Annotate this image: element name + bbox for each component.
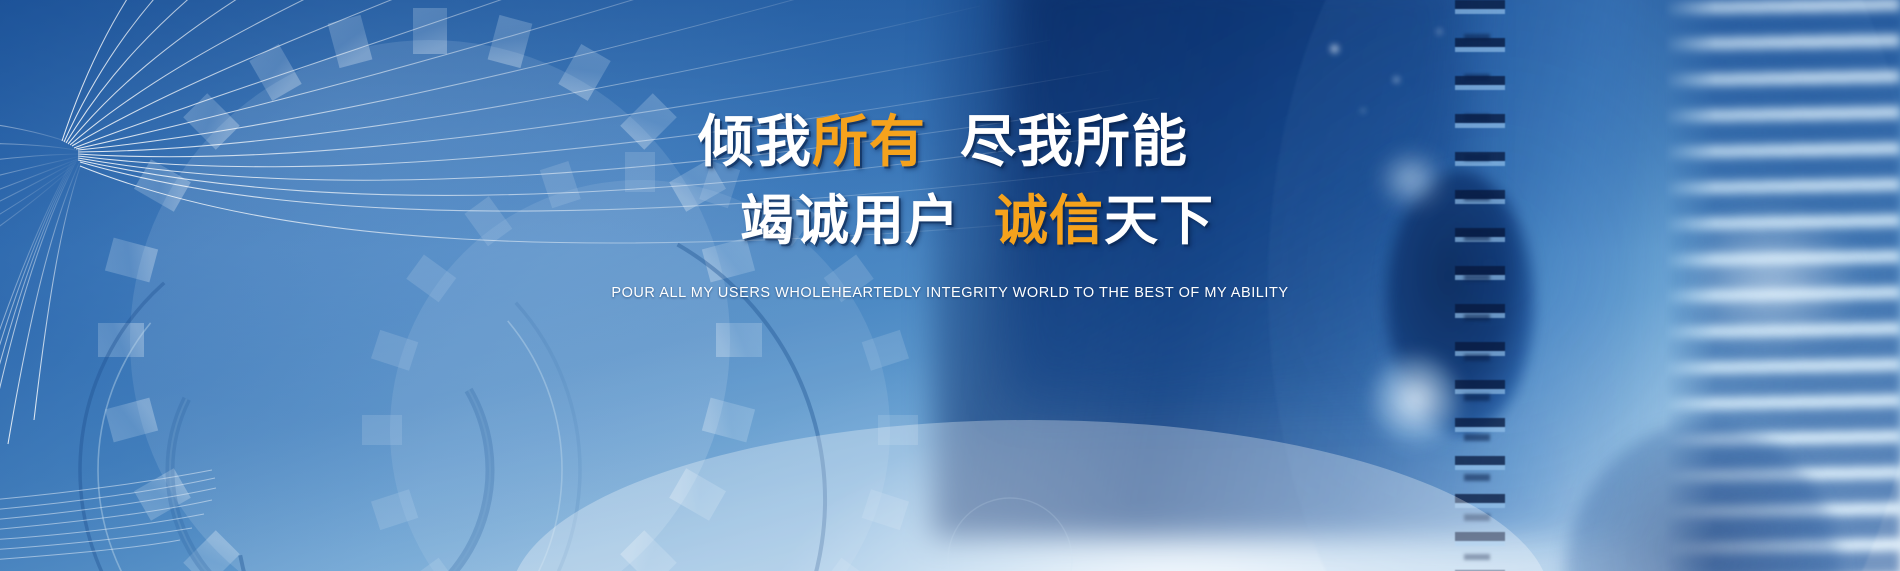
headline-segment-1: 倾我: [698, 112, 812, 175]
headline-segment-5: 诚信: [994, 191, 1104, 251]
headline-segment-2: 所有: [812, 112, 926, 175]
banner-content: 倾我 所有 尽我所能 竭诚用户 诚信 天下 POUR ALL MY USERS …: [0, 0, 1900, 571]
headline-segment-4: 竭诚用户: [740, 191, 960, 251]
banner-subtitle: POUR ALL MY USERS WHOLEHEARTEDLY INTEGRI…: [611, 285, 1288, 301]
hero-banner: 倾我 所有 尽我所能 竭诚用户 诚信 天下 POUR ALL MY USERS …: [0, 0, 1900, 571]
headline-segment-3: 尽我所能: [960, 112, 1188, 175]
headline-segment-6: 天下: [1104, 191, 1214, 251]
headline-line-1: 倾我 所有 尽我所能: [698, 112, 1188, 175]
headline-line-2: 竭诚用户 诚信 天下: [740, 191, 1214, 251]
